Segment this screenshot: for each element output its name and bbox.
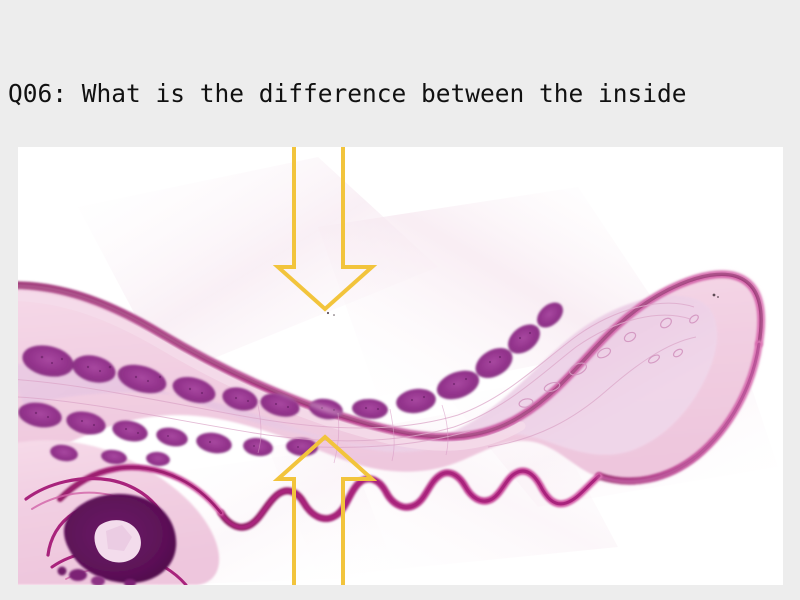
histology-slide-image [18, 147, 783, 585]
slide-canvas: Q06: What is the difference between the … [0, 0, 800, 600]
figure-image [18, 147, 783, 585]
page-title-line-1: Q06: What is the difference between the … [8, 78, 796, 110]
